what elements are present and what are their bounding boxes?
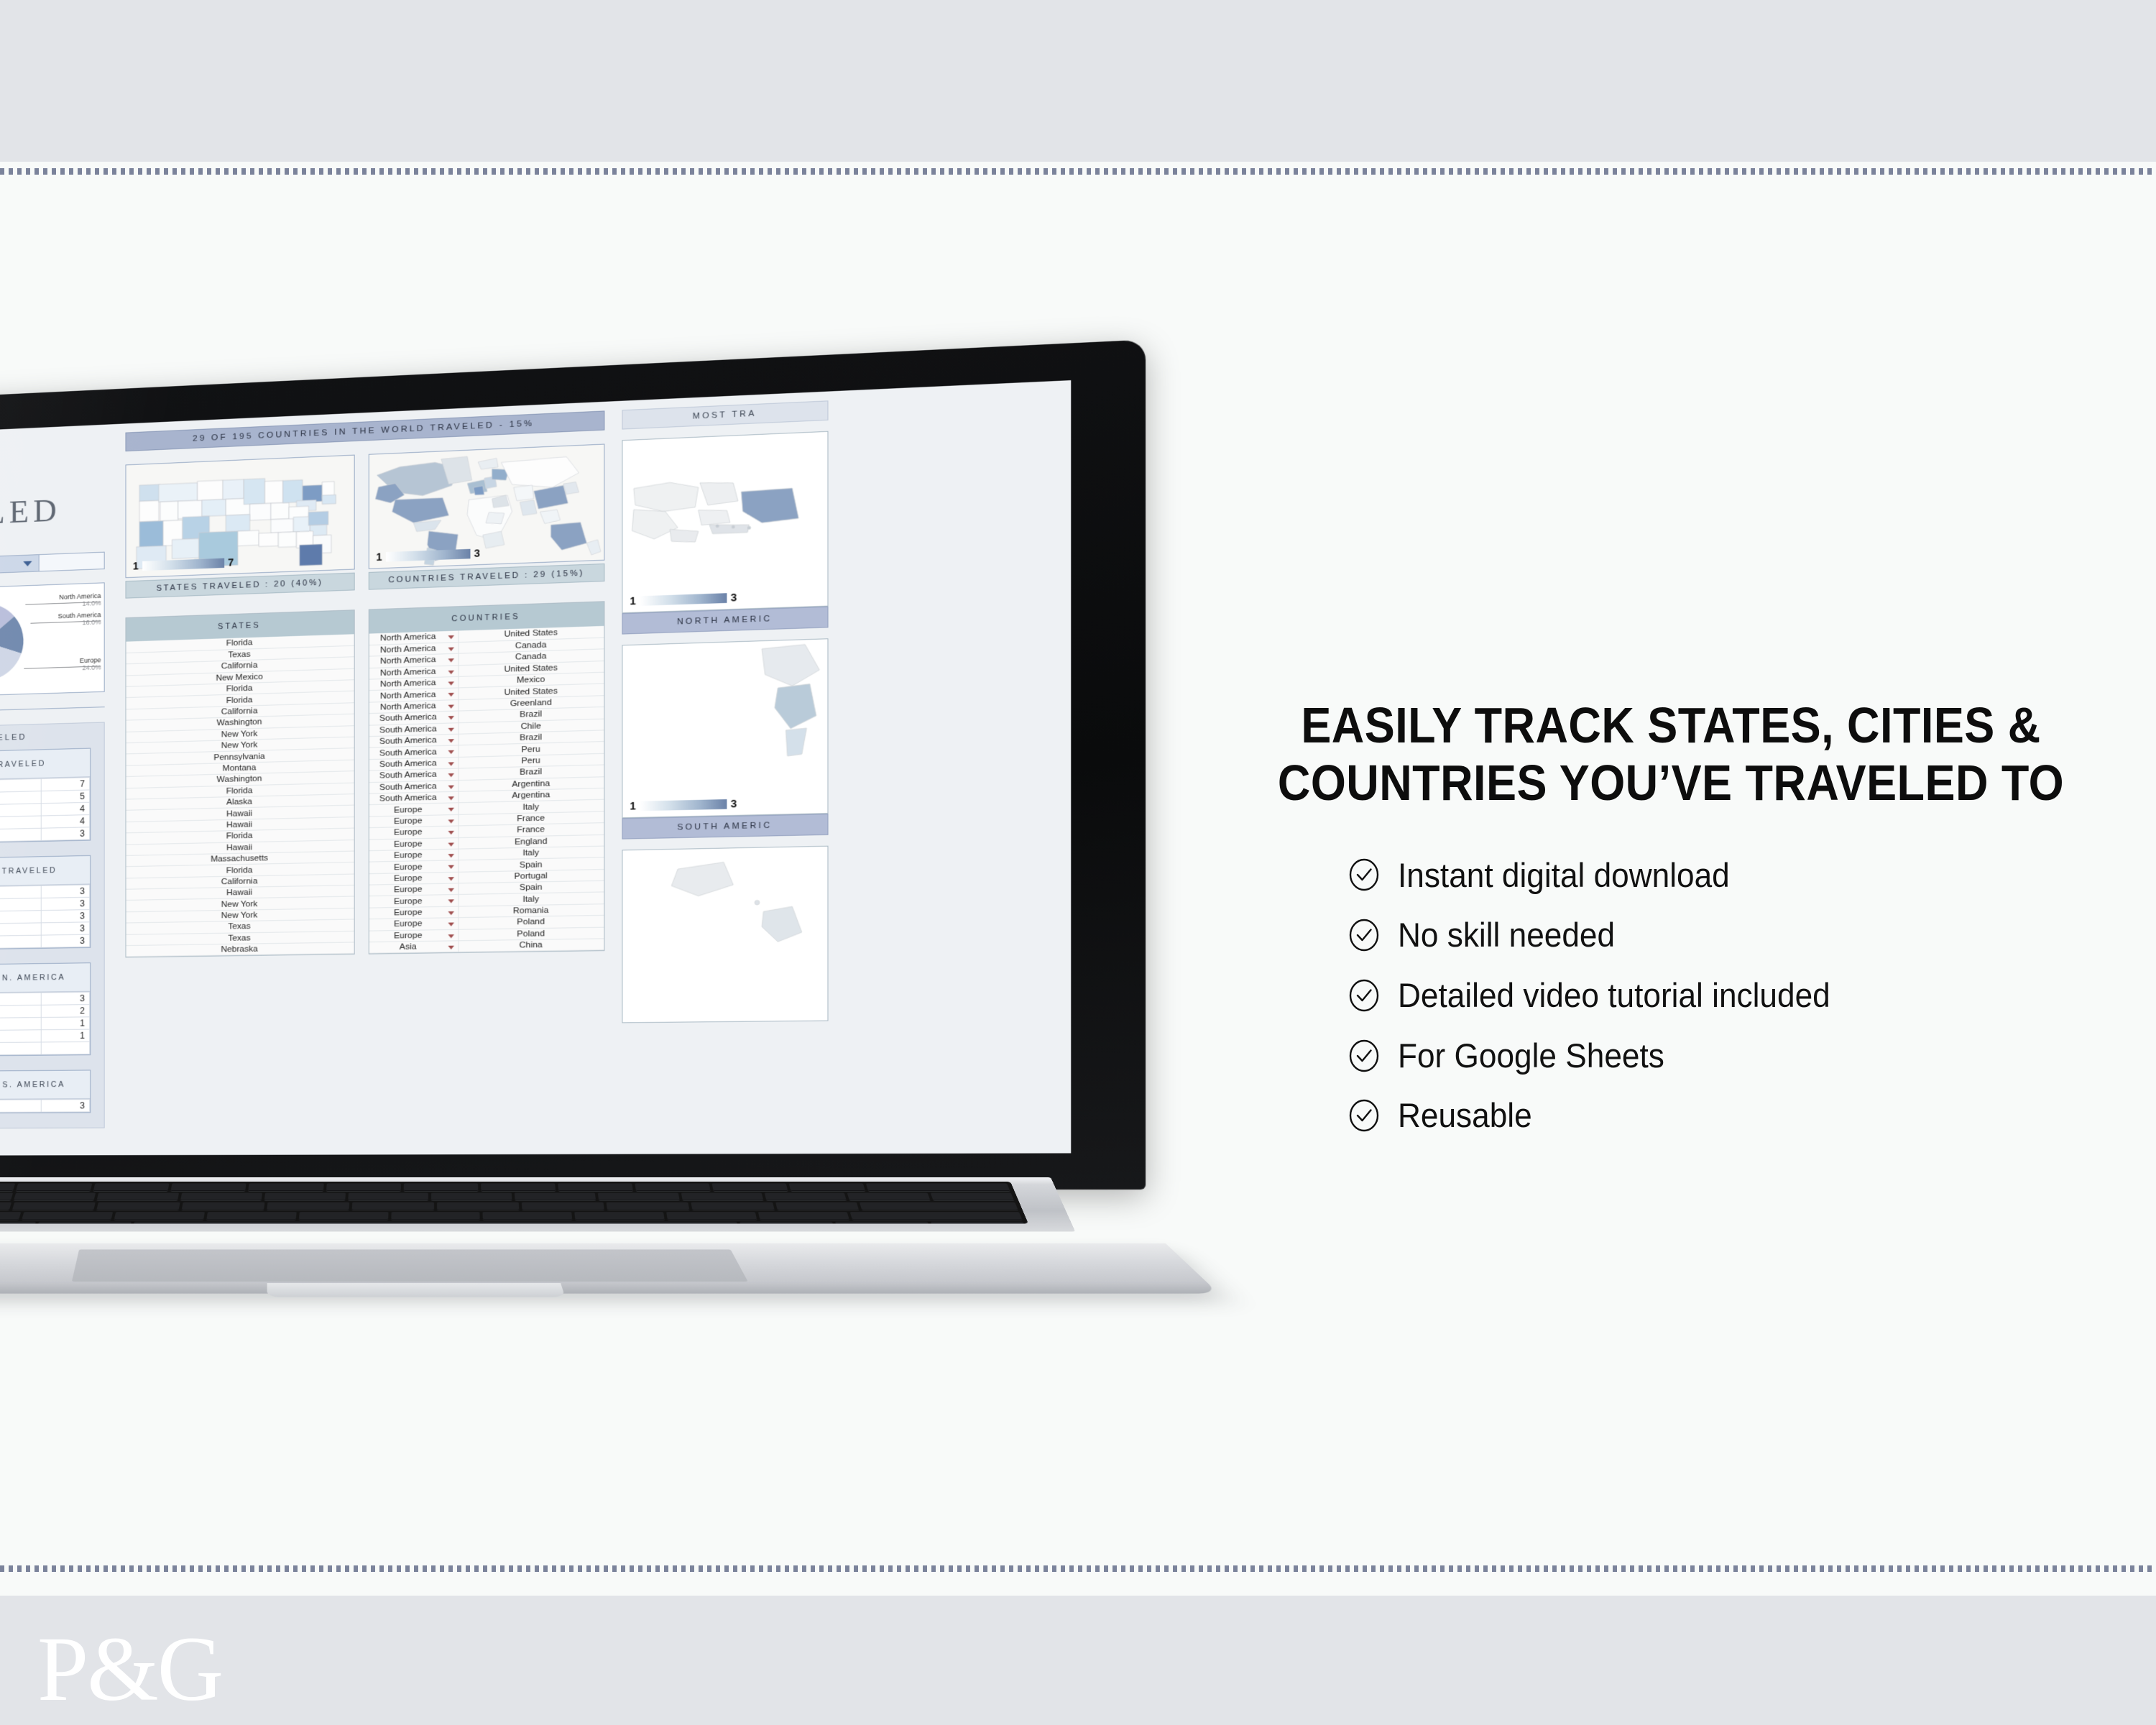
key	[114, 1212, 204, 1220]
legend-min: 1	[630, 800, 636, 812]
most-traveled-banner: MOST TRA	[622, 400, 828, 429]
top-traveled-panel: TOP TRAVELED TOP STATES TRAVELED 1.Flori…	[0, 722, 105, 1128]
brand-logo: P&G	[37, 1623, 222, 1715]
chevron-down-icon[interactable]	[448, 900, 454, 903]
key	[267, 1202, 349, 1210]
top-countries-north-america-table: TOP COUNTRIES - N. AMERICA 1.United Stat…	[0, 962, 91, 1057]
chevron-down-icon[interactable]	[448, 762, 454, 765]
table-row[interactable]: 1.Brazil3	[0, 1100, 90, 1113]
key	[522, 1202, 604, 1210]
chevron-down-icon[interactable]	[448, 785, 454, 788]
top-countries-south-america-table: TOP COUNTRIES - S. AMERICA 1.Brazil3	[0, 1069, 91, 1113]
europe-map-svg	[623, 847, 829, 1023]
country-name-cell: China	[458, 939, 604, 952]
key	[598, 1193, 680, 1201]
key	[326, 1183, 401, 1191]
legend-gradient-bar	[142, 558, 224, 571]
table-title: TOP COUNTRIES TRAVELED	[0, 856, 90, 888]
chevron-down-icon[interactable]	[448, 911, 454, 915]
states-table-body: FloridaTexasCaliforniaNew MexicoFloridaF…	[126, 634, 354, 957]
key	[97, 1202, 180, 1210]
key-shift-right	[850, 1212, 1023, 1220]
table-row[interactable]: Nebraska	[126, 942, 354, 957]
chevron-down-icon[interactable]	[448, 865, 454, 869]
key	[691, 1202, 774, 1210]
map-legend: 1 3	[630, 798, 737, 812]
chevron-down-icon[interactable]	[448, 888, 454, 892]
key	[575, 1212, 665, 1220]
chevron-down-icon[interactable]	[448, 635, 454, 639]
chevron-down-icon[interactable]	[23, 561, 32, 567]
chevron-down-icon[interactable]	[448, 819, 454, 823]
key-tab	[0, 1193, 13, 1201]
spreadsheet-canvas: PLACES TRAVELED	[0, 380, 1071, 1156]
chevron-down-icon[interactable]	[448, 658, 454, 662]
chevron-down-icon[interactable]	[448, 877, 454, 880]
key	[681, 1193, 763, 1201]
world-choropleth-map[interactable]: 1 3	[369, 443, 605, 569]
promo-bullet-label: Detailed video tutorial included	[1398, 977, 1830, 1014]
data-tables-row: STATES FloridaTexasCaliforniaNew MexicoF…	[125, 601, 604, 958]
europe-map[interactable]	[622, 846, 828, 1023]
key	[16, 1183, 92, 1191]
key-capslock	[0, 1202, 11, 1210]
key	[558, 1183, 633, 1191]
states-map-card: 1 7 STATES TRAVELED : 20 (40%)	[125, 455, 354, 599]
pie-label-europe: Europe 24.0%	[80, 656, 101, 671]
list-item: Reusable	[1347, 1097, 2127, 1134]
chevron-down-icon[interactable]	[448, 808, 454, 811]
key-space	[133, 1222, 738, 1224]
key-shift-left	[0, 1212, 21, 1220]
countries-list-table: COUNTRIES North AmericaUnited StatesNort…	[369, 601, 605, 954]
states-list-table: STATES FloridaTexasCaliforniaNew MexicoF…	[125, 609, 354, 958]
background-band-top	[0, 0, 2156, 162]
list-item: Detailed video tutorial included	[1347, 977, 2127, 1014]
laptop-lid: PLACES TRAVELED	[0, 339, 1146, 1190]
key-arrows	[931, 1222, 1027, 1224]
key	[835, 1222, 931, 1224]
divider-bottom-dotted	[0, 1565, 2156, 1572]
south-america-map[interactable]: 1 3	[622, 638, 828, 818]
key	[437, 1202, 519, 1210]
divider-top-dotted	[0, 168, 2156, 175]
north-america-map[interactable]: 1 3	[622, 431, 828, 614]
legend-max: 3	[731, 592, 737, 604]
key	[249, 1183, 324, 1191]
chevron-down-icon[interactable]	[448, 704, 454, 708]
countries-table-body: North AmericaUnited StatesNorth AmericaC…	[369, 626, 604, 954]
keyboard-row	[0, 1183, 1015, 1191]
key	[740, 1222, 834, 1224]
list-item: Instant digital download	[1347, 857, 2127, 894]
key	[348, 1193, 428, 1201]
chevron-down-icon[interactable]	[448, 670, 454, 673]
chevron-down-icon[interactable]	[448, 716, 454, 719]
pie-chart-svg	[0, 592, 33, 691]
key	[171, 1183, 247, 1191]
filter-bar[interactable]	[0, 552, 105, 579]
key	[182, 1202, 265, 1210]
key	[635, 1183, 710, 1191]
table-row[interactable]: AsiaChina	[369, 939, 604, 954]
table-row[interactable]: 5.Australia3	[0, 934, 90, 950]
background-band-bottom	[0, 1596, 2156, 1725]
key	[352, 1202, 434, 1210]
laptop-base	[0, 1177, 1216, 1364]
list-item: No skill needed	[1347, 916, 2127, 954]
key	[666, 1212, 757, 1220]
keyboard-row	[0, 1193, 1018, 1201]
key	[847, 1193, 931, 1201]
key	[758, 1212, 849, 1220]
legend-min: 1	[630, 594, 636, 607]
key	[606, 1202, 689, 1210]
table-title: TOP COUNTRIES - N. AMERICA	[0, 963, 90, 994]
laptop-trackpad	[72, 1249, 748, 1282]
page-title: PLACES TRAVELED	[0, 433, 112, 537]
key	[515, 1193, 596, 1201]
legend-gradient-bar	[640, 593, 727, 606]
us-choropleth-map[interactable]: 1 7	[125, 455, 354, 579]
key-return	[860, 1202, 1018, 1210]
laptop-keyboard	[0, 1182, 1028, 1223]
key	[180, 1193, 262, 1201]
continent-cell[interactable]: Europe	[369, 918, 459, 931]
key	[481, 1183, 556, 1191]
countries-map-card: 1 3 COUNTRIES TRAVELED : 29 (15%)	[369, 443, 605, 589]
table-row[interactable]: 5.	[0, 1041, 90, 1056]
continent-cell[interactable]: Europe	[369, 906, 459, 919]
table-row[interactable]: 5.Texas3	[0, 827, 90, 844]
legend-gradient-bar	[640, 799, 727, 810]
key	[206, 1212, 296, 1220]
countries-progress-banner: 29 OF 195 COUNTRIES IN THE WORLD TRAVELE…	[125, 410, 604, 451]
key	[37, 1222, 132, 1224]
key	[97, 1193, 179, 1201]
chevron-down-icon[interactable]	[448, 923, 454, 926]
promo-bullet-label: Reusable	[1398, 1097, 1532, 1134]
list-item: For Google Sheets	[1347, 1037, 2127, 1075]
key	[764, 1193, 847, 1201]
key	[483, 1212, 573, 1220]
legend-gradient-bar	[386, 548, 470, 561]
key	[298, 1212, 388, 1220]
chevron-down-icon[interactable]	[448, 946, 454, 949]
table-title: TOP COUNTRIES - S. AMERICA	[0, 1070, 90, 1100]
key	[712, 1183, 788, 1191]
most-traveled-column: MOST TRA	[622, 400, 828, 1023]
promo-bullet-label: Instant digital download	[1398, 857, 1730, 894]
south-america-caption: SOUTH AMERIC	[622, 814, 828, 839]
promo-bullet-label: For Google Sheets	[1398, 1037, 1664, 1075]
sidebar-divider	[0, 707, 105, 714]
laptop-screen: PLACES TRAVELED	[0, 380, 1071, 1156]
key	[0, 1183, 15, 1191]
key	[931, 1193, 1014, 1201]
chevron-down-icon[interactable]	[448, 727, 454, 731]
pie-label-north-america: North America 14.0%	[59, 592, 101, 609]
chevron-down-icon[interactable]	[448, 796, 454, 800]
chevron-down-icon[interactable]	[448, 842, 454, 846]
chevron-down-icon[interactable]	[448, 647, 454, 650]
key	[0, 1222, 36, 1224]
chevron-down-icon[interactable]	[448, 693, 454, 696]
continent-cell[interactable]: Asia	[369, 941, 459, 954]
state-name-cell: Nebraska	[126, 942, 354, 957]
keyboard-row	[0, 1202, 1023, 1210]
key	[391, 1212, 480, 1220]
legend-min: 1	[376, 551, 382, 563]
main-column: 29 OF 195 COUNTRIES IN THE WORLD TRAVELE…	[125, 410, 604, 957]
legend-max: 3	[474, 547, 480, 559]
laptop-palmrest	[0, 1243, 1219, 1294]
chevron-down-icon[interactable]	[448, 934, 454, 938]
top-countries-traveled-table: TOP COUNTRIES TRAVELED 1.United States3 …	[0, 855, 91, 951]
continent-cell[interactable]: Europe	[369, 929, 459, 942]
key	[789, 1183, 866, 1191]
sidebar: PLACES TRAVELED	[0, 433, 112, 1128]
key	[93, 1183, 170, 1191]
continent-pie-chart: Australia 6.0% Asia 22.0% Africa	[0, 582, 105, 699]
chevron-down-icon[interactable]	[448, 681, 454, 685]
legend-max: 3	[731, 798, 737, 810]
key	[13, 1193, 96, 1201]
south-america-map-svg	[623, 639, 829, 818]
keyboard-row	[0, 1222, 1028, 1224]
maps-row: 1 7 STATES TRAVELED : 20 (40%)	[125, 443, 604, 598]
key-delete	[866, 1183, 1010, 1191]
legend-min: 1	[133, 560, 139, 572]
laptop-front-notch	[267, 1283, 566, 1297]
key	[775, 1202, 860, 1210]
laptop-mockup: PLACES TRAVELED	[0, 402, 1416, 1423]
chevron-down-icon[interactable]	[448, 739, 454, 742]
key	[11, 1202, 96, 1210]
key	[22, 1212, 113, 1220]
key	[431, 1193, 512, 1201]
legend-max: 7	[228, 556, 234, 569]
north-america-map-svg	[623, 432, 829, 614]
chevron-down-icon[interactable]	[448, 831, 454, 834]
top-states-traveled-table: TOP STATES TRAVELED 1.Florida7 2.New Yor…	[0, 748, 91, 845]
chevron-down-icon[interactable]	[448, 854, 454, 857]
key	[403, 1183, 478, 1191]
keyboard-row	[0, 1212, 1027, 1220]
key	[264, 1193, 346, 1201]
filter-value-cell[interactable]	[40, 553, 104, 571]
pie-label-south-america: South America 16.0%	[58, 611, 101, 627]
filter-dropdown[interactable]	[0, 555, 40, 576]
promo-bullet-label: No skill needed	[1398, 916, 1615, 954]
chevron-down-icon[interactable]	[448, 750, 454, 754]
chevron-down-icon[interactable]	[448, 773, 454, 777]
